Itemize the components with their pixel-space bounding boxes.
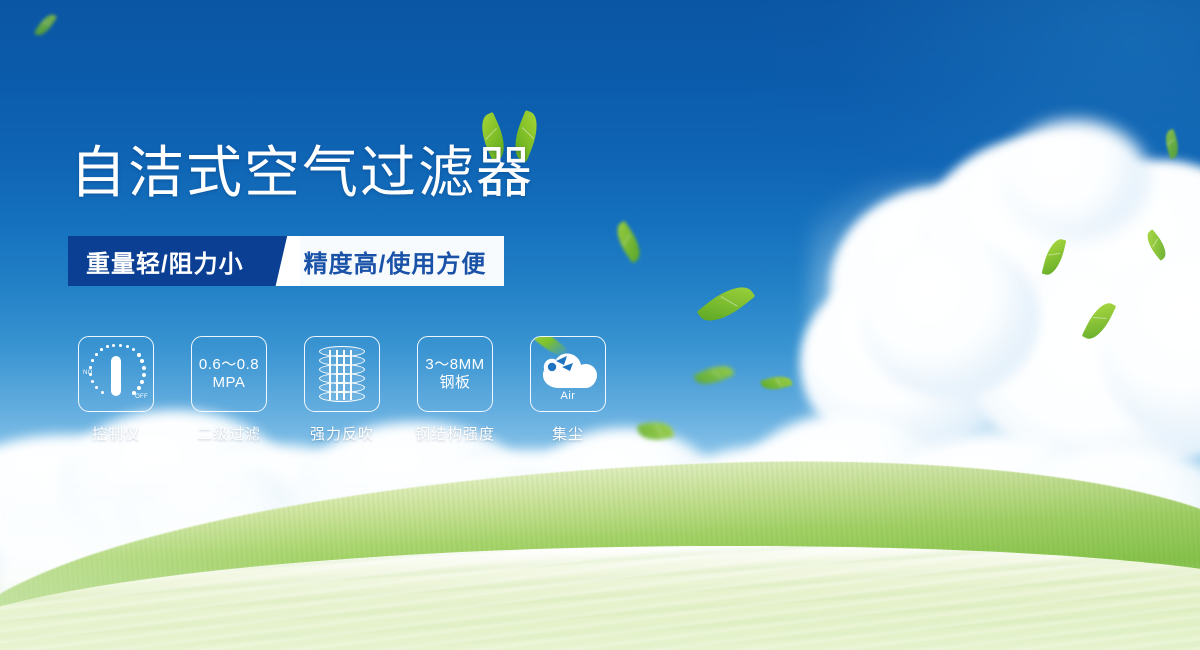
feature-label: 二级过滤 (197, 423, 261, 444)
page-title: 自洁式空气过滤器 (70, 144, 534, 203)
feature-label: 集尘 (552, 423, 584, 444)
subtitle-left: 重量轻/阻力小 (68, 236, 266, 286)
feature-list: NO OFF 控制仪 0.6〜0.8 MPA 二级过滤 (78, 336, 606, 444)
feature-item-steel[interactable]: 3〜8MM 钢板 钢结构强度 (417, 336, 493, 444)
pressure-value-icon: 0.6〜0.8 MPA (199, 356, 259, 391)
dial-label-off: OFF (135, 394, 148, 400)
subtitle-divider (266, 236, 300, 286)
feature-label: 控制仪 (92, 423, 140, 444)
steel-material: 钢板 (425, 374, 484, 392)
feature-icon-box: NO OFF (78, 336, 154, 412)
subtitle-right: 精度高/使用方便 (300, 236, 505, 286)
subtitle-bar: 重量轻/阻力小 精度高/使用方便 (68, 236, 504, 286)
dial-label-no: NO (83, 370, 93, 376)
cloud-air-icon: Air (537, 346, 599, 402)
control-dial-icon: NO OFF (82, 340, 150, 408)
hero-banner: 自洁式空气过滤器 重量轻/阻力小 精度高/使用方便 (0, 0, 1200, 650)
air-label: Air (537, 390, 599, 402)
pressure-range: 0.6〜0.8 (199, 356, 259, 374)
feature-icon-box: Air (530, 336, 606, 412)
steel-plate-icon: 3〜8MM 钢板 (425, 356, 484, 391)
pressure-unit: MPA (199, 374, 259, 392)
feature-item-control-dial[interactable]: NO OFF 控制仪 (78, 336, 154, 444)
feature-icon-box: 0.6〜0.8 MPA (191, 336, 267, 412)
feature-item-pressure[interactable]: 0.6〜0.8 MPA 二级过滤 (191, 336, 267, 444)
grass-field (0, 455, 1200, 650)
feature-icon-box: 3〜8MM 钢板 (417, 336, 493, 412)
feature-item-backblow[interactable]: 强力反吹 (304, 336, 380, 444)
feature-label: 强力反吹 (310, 423, 374, 444)
steel-thickness: 3〜8MM (425, 356, 484, 374)
filter-cartridge-icon (319, 346, 365, 402)
feature-icon-box (304, 336, 380, 412)
feature-label: 钢结构强度 (415, 423, 495, 444)
feature-item-dust[interactable]: Air 集尘 (530, 336, 606, 444)
